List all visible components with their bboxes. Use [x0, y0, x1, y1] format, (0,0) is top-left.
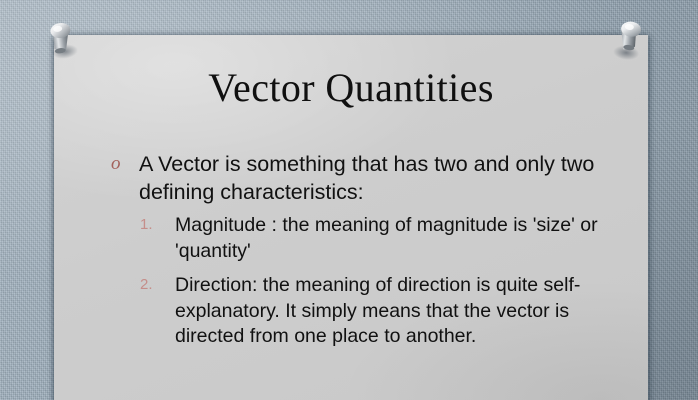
slide-title: Vector Quantities: [54, 67, 648, 109]
wingdings-oval-bullet-icon: o: [111, 154, 133, 173]
list-item-number: 2.: [140, 275, 166, 295]
list-item: 2. Direction: the meaning of direction i…: [108, 273, 630, 349]
bullet-item: o A Vector is something that has two and…: [108, 151, 630, 206]
list-item-text: Direction: the meaning of direction is q…: [175, 274, 580, 347]
slide-body: o A Vector is something that has two and…: [108, 151, 630, 349]
paper-sheet: Vector Quantities o A Vector is somethin…: [54, 35, 648, 400]
bullet-item-text: A Vector is something that has two and o…: [139, 152, 594, 204]
slide-stage: Vector Quantities o A Vector is somethin…: [0, 0, 698, 400]
list-item: 1. Magnitude : the meaning of magnitude …: [108, 213, 630, 264]
slide-content: Vector Quantities o A Vector is somethin…: [54, 35, 648, 400]
list-item-number: 1.: [140, 215, 166, 235]
numbered-sub-list: 1. Magnitude : the meaning of magnitude …: [108, 213, 630, 349]
list-item-text: Magnitude : the meaning of magnitude is …: [175, 214, 598, 261]
